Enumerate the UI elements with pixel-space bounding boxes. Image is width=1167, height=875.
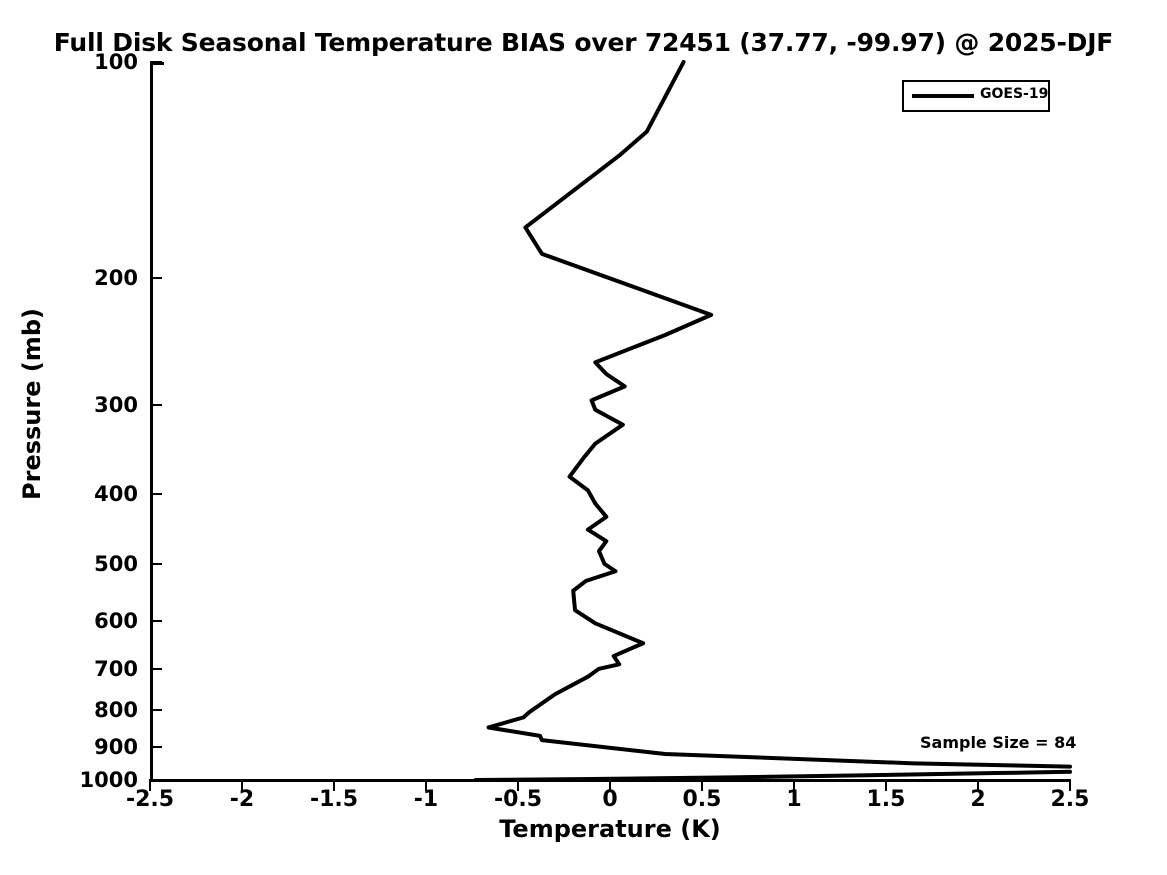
x-tick-label-2_5: 2.5 <box>1025 787 1115 812</box>
x-tick-label-0: 0 <box>565 787 655 812</box>
chart-title: Full Disk Seasonal Temperature BIAS over… <box>0 28 1167 57</box>
legend-label: GOES-19 <box>980 86 1048 102</box>
y-axis-line <box>150 62 153 782</box>
y-tick-1000 <box>150 779 162 781</box>
y-tick-label-300: 300 <box>48 393 138 417</box>
y-tick-label-100: 100 <box>48 50 138 74</box>
y-tick-label-600: 600 <box>48 609 138 633</box>
y-axis-label: Pressure (mb) <box>18 254 46 554</box>
chart-root: Full Disk Seasonal Temperature BIAS over… <box>0 0 1167 875</box>
x-tick-label-0_5: 0.5 <box>657 787 747 812</box>
x-tick-label-1_5: 1.5 <box>841 787 931 812</box>
x-tick-label--1: -1 <box>381 787 471 812</box>
legend-line-swatch <box>912 94 974 98</box>
sample-size-annotation: Sample Size = 84 <box>920 733 1076 752</box>
x-tick-label--2: -2 <box>197 787 287 812</box>
x-tick-label--1_5: -1.5 <box>289 787 379 812</box>
x-tick-label--0_5: -0.5 <box>473 787 563 812</box>
x-axis-label: Temperature (K) <box>150 815 1070 843</box>
y-tick-label-200: 200 <box>48 266 138 290</box>
y-tick-label-700: 700 <box>48 657 138 681</box>
y-tick-label-900: 900 <box>48 735 138 759</box>
y-tick-label-800: 800 <box>48 698 138 722</box>
y-tick-500 <box>150 563 162 565</box>
y-tick-label-400: 400 <box>48 482 138 506</box>
x-tick-label-1: 1 <box>749 787 839 812</box>
y-tick-100 <box>150 61 162 63</box>
series-line-goes-19 <box>489 62 1070 767</box>
y-tick-200 <box>150 277 162 279</box>
y-tick-700 <box>150 668 162 670</box>
y-tick-400 <box>150 493 162 495</box>
y-tick-900 <box>150 746 162 748</box>
y-tick-800 <box>150 709 162 711</box>
y-tick-300 <box>150 404 162 406</box>
x-tick-label-2: 2 <box>933 787 1023 812</box>
y-tick-label-500: 500 <box>48 552 138 576</box>
x-tick-label--2_5: -2.5 <box>105 787 195 812</box>
y-tick-600 <box>150 620 162 622</box>
legend: GOES-19 <box>902 80 1050 112</box>
